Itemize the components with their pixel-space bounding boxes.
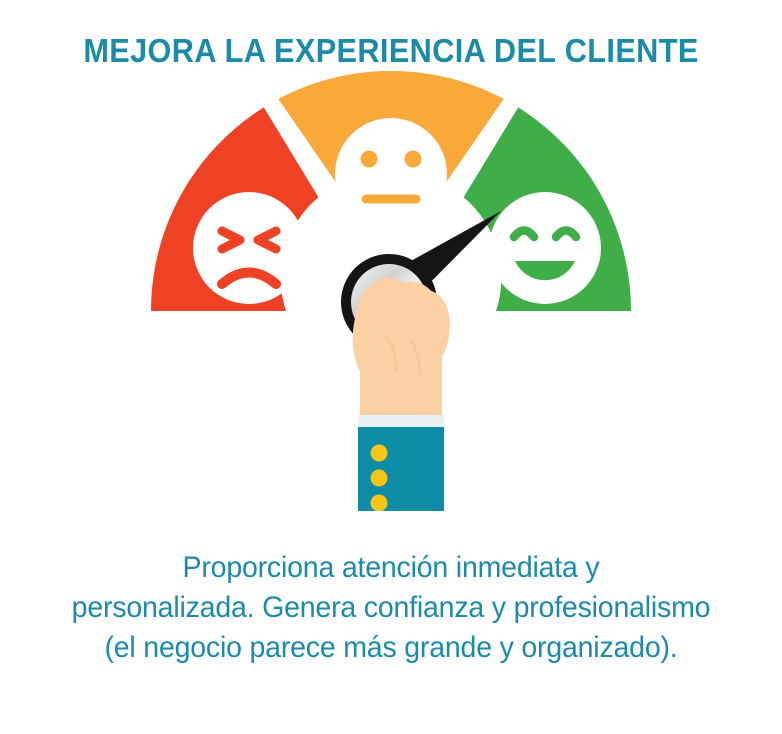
caption-line-1: Proporciona atención inmediata y: [40, 548, 741, 588]
sleeve: [358, 415, 444, 511]
poster-root: MEJORA LA EXPERIENCIA DEL CLIENTE: [0, 0, 782, 734]
caption-line-2: personalizada. Genera confianza y profes…: [40, 588, 741, 628]
sleeve-body: [358, 427, 444, 511]
sad-face-icon: [193, 192, 305, 304]
sleeve-button-2: [371, 469, 388, 486]
sleeve-button-1: [371, 444, 388, 461]
caption-line-3: (el negocio parece más grande y organiza…: [40, 628, 741, 668]
gauge-svg: [0, 71, 782, 511]
satisfaction-gauge-illustration: [0, 71, 782, 511]
neutral-face-icon: [335, 118, 447, 230]
hand-icon: [353, 277, 450, 419]
caption-text: Proporciona atención inmediata y persona…: [20, 548, 763, 668]
happy-face-icon: [489, 192, 601, 304]
sleeve-button-3: [371, 494, 388, 511]
sleeve-cuff: [358, 415, 444, 429]
page-title: MEJORA LA EXPERIENCIA DEL CLIENTE: [27, 0, 754, 69]
